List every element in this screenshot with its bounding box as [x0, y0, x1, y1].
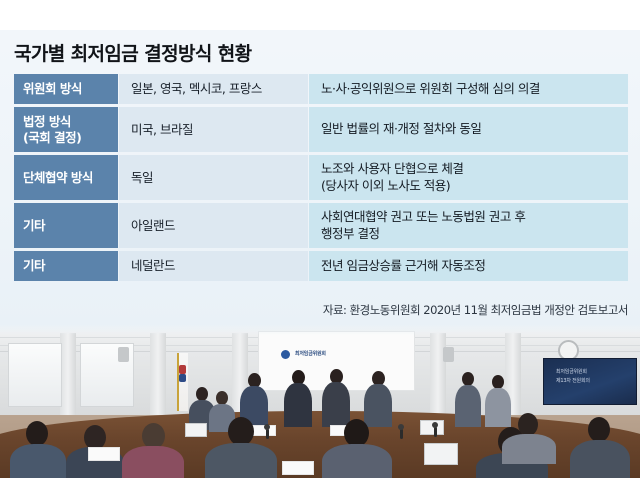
cell-method: 단체협약 방식 — [14, 155, 118, 200]
photo-flag-mark — [179, 374, 186, 382]
photo-person-head — [492, 375, 504, 389]
cell-method: 기타 — [14, 251, 118, 281]
method-label: 기타 — [23, 258, 45, 273]
photo-microphone — [266, 429, 269, 439]
description-label: 사회연대협약 권고 또는 노동법원 권고 후 행정부 결정 — [321, 209, 525, 242]
cell-countries: 아일랜드 — [119, 203, 308, 248]
photo-person-head — [588, 417, 610, 442]
cell-description: 일반 법률의 재·개정 절차와 동일 — [309, 107, 628, 152]
photo-microphone — [400, 429, 403, 439]
method-label: 단체협약 방식 — [23, 170, 93, 185]
photo-laptop — [185, 423, 207, 437]
photo-paper — [88, 447, 120, 461]
photo-person — [10, 444, 66, 478]
cell-countries: 일본, 영국, 멕시코, 프랑스 — [119, 74, 308, 104]
photo-person-head — [26, 421, 48, 446]
photo-person — [322, 382, 350, 427]
photo-top-fade — [0, 325, 640, 335]
photo-microphone — [398, 424, 404, 430]
cell-countries: 미국, 브라질 — [119, 107, 308, 152]
photo-person-head — [518, 413, 538, 436]
photo-paper — [282, 461, 314, 475]
photo-flag — [177, 353, 188, 411]
photo-presentation-screen: 최저임금위원회 제13차 전원회의 — [543, 358, 637, 405]
method-label: 위원회 방식 — [23, 81, 82, 96]
description-label: 노조와 사용자 단협으로 체결 (당사자 이외 노사도 적용) — [321, 161, 463, 194]
commission-logo-icon — [281, 350, 290, 359]
photo-flag-mark — [179, 365, 186, 374]
countries-label: 네덜란드 — [131, 258, 175, 274]
photo-laptop — [424, 443, 458, 465]
photo-person — [485, 388, 511, 427]
banner-text: 최저임금위원회 — [295, 350, 326, 357]
source-caption: 자료: 환경노동위원회 2020년 11월 최저임금법 개정안 검토보고서 — [323, 302, 628, 318]
method-label: 법정 방식 (국회 결정) — [23, 114, 81, 145]
minimum-wage-method-table: 위원회 방식 일본, 영국, 멕시코, 프랑스 노·사·공익위원으로 위원회 구… — [14, 74, 628, 284]
photo-microphone — [434, 427, 437, 437]
photo-wall-column — [60, 333, 76, 421]
photo-person — [502, 434, 556, 464]
photo-person-head — [228, 417, 254, 446]
meeting-room-photo: 최저임금위원회 최저임금위원회 제13차 전원회의 — [0, 325, 640, 478]
table-row: 법정 방식 (국회 결정) 미국, 브라질 일반 법률의 재·개정 절차와 동일 — [14, 107, 628, 152]
cell-method: 기타 — [14, 203, 118, 248]
page-title: 국가별 최저임금 결정방식 현황 — [14, 39, 252, 66]
photo-wall-speaker — [443, 347, 454, 362]
photo-microphone — [432, 422, 438, 428]
screen-title-line1: 최저임금위원회 — [556, 368, 587, 375]
table-row: 기타 네덜란드 전년 임금상승률 근거해 자동조정 — [14, 251, 628, 281]
cell-countries: 네덜란드 — [119, 251, 308, 281]
photo-person — [322, 444, 392, 478]
photo-person-head — [344, 419, 369, 447]
table-row: 위원회 방식 일본, 영국, 멕시코, 프랑스 노·사·공익위원으로 위원회 구… — [14, 74, 628, 104]
cell-description: 사회연대협약 권고 또는 노동법원 권고 후 행정부 결정 — [309, 203, 628, 248]
countries-label: 일본, 영국, 멕시코, 프랑스 — [131, 81, 262, 97]
method-label: 기타 — [23, 218, 45, 233]
photo-person — [205, 443, 277, 478]
cell-description: 노·사·공익위원으로 위원회 구성해 심의 의결 — [309, 74, 628, 104]
table-row: 단체협약 방식 독일 노조와 사용자 단협으로 체결 (당사자 이외 노사도 적… — [14, 155, 628, 200]
cell-description: 전년 임금상승률 근거해 자동조정 — [309, 251, 628, 281]
photo-wall-column — [150, 333, 166, 421]
photo-person — [122, 446, 184, 478]
photo-person-head — [216, 391, 228, 405]
infographic-panel: 국가별 최저임금 결정방식 현황 위원회 방식 일본, 영국, 멕시코, 프랑스… — [0, 30, 640, 325]
photo-person-head — [462, 372, 474, 386]
photo-wall-speaker — [118, 347, 129, 362]
cell-method: 법정 방식 (국회 결정) — [14, 107, 118, 152]
countries-label: 독일 — [131, 170, 153, 186]
photo-person-head — [196, 387, 208, 401]
countries-label: 미국, 브라질 — [131, 122, 193, 138]
photo-person — [455, 385, 481, 427]
description-label: 일반 법률의 재·개정 절차와 동일 — [321, 121, 481, 137]
photo-person — [364, 384, 392, 427]
table-row: 기타 아일랜드 사회연대협약 권고 또는 노동법원 권고 후 행정부 결정 — [14, 203, 628, 248]
description-label: 노·사·공익위원으로 위원회 구성해 심의 의결 — [321, 81, 540, 97]
photo-person — [284, 383, 312, 427]
infographic-page: 국가별 최저임금 결정방식 현황 위원회 방식 일본, 영국, 멕시코, 프랑스… — [0, 0, 640, 501]
photo-window — [8, 343, 62, 407]
cell-method: 위원회 방식 — [14, 74, 118, 104]
photo-microphone — [264, 424, 270, 430]
countries-label: 아일랜드 — [131, 218, 175, 234]
cell-countries: 독일 — [119, 155, 308, 200]
photo-person — [570, 440, 630, 478]
description-label: 전년 임금상승률 근거해 자동조정 — [321, 258, 485, 274]
cell-description: 노조와 사용자 단협으로 체결 (당사자 이외 노사도 적용) — [309, 155, 628, 200]
screen-title-line2: 제13차 전원회의 — [556, 377, 590, 384]
